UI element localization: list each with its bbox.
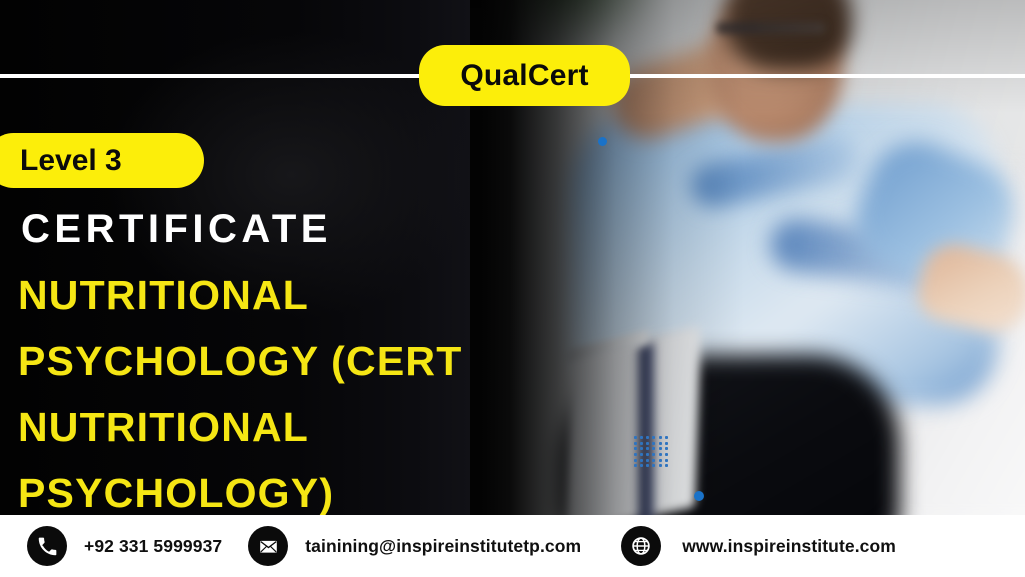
page-title: CERTIFICATE NUTRITIONAL PSYCHOLOGY (CERT… [18, 196, 578, 526]
contact-website[interactable]: www.inspireinstitute.com [621, 515, 896, 577]
title-line-1: NUTRITIONAL [18, 262, 578, 328]
website-url: www.inspireinstitute.com [682, 536, 896, 557]
phone-number: +92 331 5999937 [84, 536, 222, 557]
title-line-certificate: CERTIFICATE [18, 196, 578, 262]
title-line-2: PSYCHOLOGY (CERT [18, 328, 578, 394]
contact-footer: +92 331 5999937 tainining@inspireinstitu… [0, 515, 1025, 577]
course-promo-banner: QualCert Level 3 CERTIFICATE NUTRITIONAL… [0, 0, 1025, 577]
level-badge: Level 3 [0, 133, 204, 188]
blue-dot-accent-icon [598, 137, 607, 146]
brand-name: QualCert [460, 61, 588, 91]
phone-icon [27, 526, 67, 566]
contact-phone[interactable]: +92 331 5999937 [27, 515, 222, 577]
contact-email[interactable]: tainining@inspireinstitutetp.com [248, 515, 581, 577]
dot-grid-accent-icon [634, 436, 670, 469]
email-address: tainining@inspireinstitutetp.com [305, 536, 581, 557]
level-badge-label: Level 3 [20, 146, 122, 176]
brand-logo-pill[interactable]: QualCert [419, 45, 630, 106]
envelope-icon [248, 526, 288, 566]
globe-icon [621, 526, 661, 566]
title-line-3: NUTRITIONAL [18, 394, 578, 460]
blue-dot-accent-icon [694, 491, 704, 501]
